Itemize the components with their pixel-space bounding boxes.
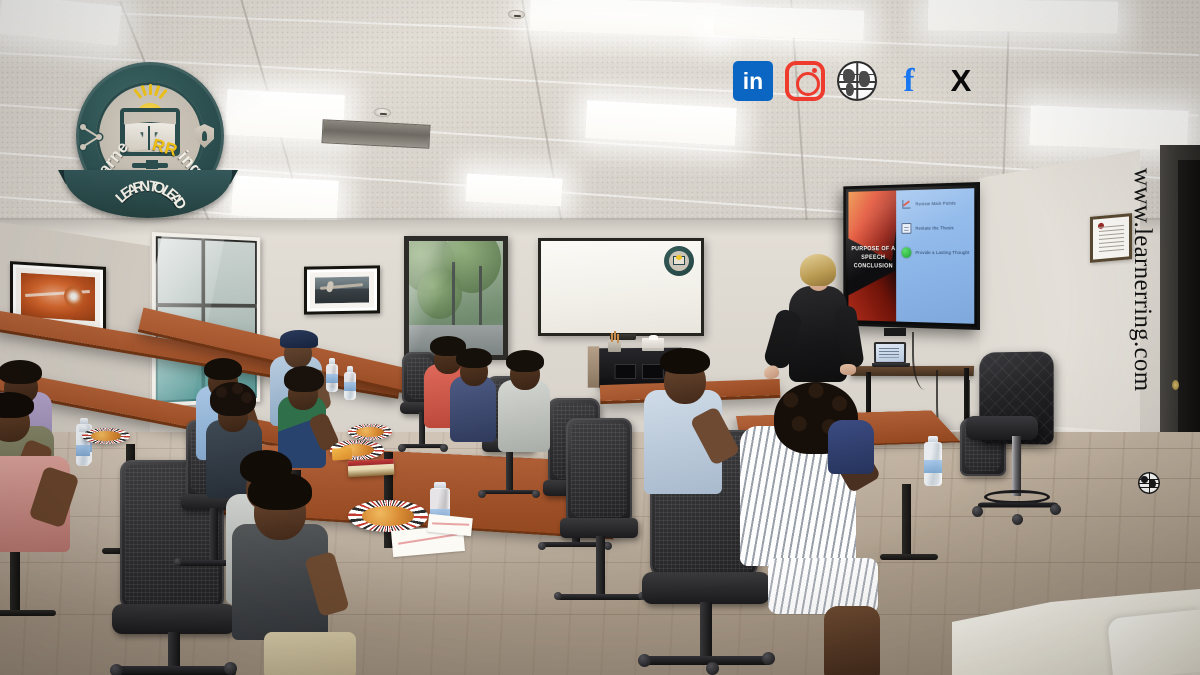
facebook-icon[interactable]: f — [889, 61, 929, 101]
classroom-photo: PURPOSE OF A SPEECH CONCLUSION Review Ma… — [0, 0, 1200, 675]
table-foot — [880, 554, 938, 560]
ceiling-light-panel — [231, 175, 339, 220]
learnerring-logo: Learne RR ing L E A R N T O L E A D — [58, 62, 238, 238]
presentation-slide: PURPOSE OF A SPEECH CONCLUSION Review Ma… — [848, 188, 974, 324]
table-foot — [0, 610, 56, 616]
globe-web-icon[interactable] — [837, 61, 877, 101]
stool-cushion — [966, 416, 1038, 440]
water-bottle — [924, 436, 942, 486]
x-twitter-icon[interactable]: X — [941, 61, 981, 101]
slide-bullet-label: Review Main Points — [915, 201, 955, 207]
water-bottle — [344, 366, 356, 400]
slide-bullet-item: Restate the Thesis — [902, 222, 970, 234]
snack-plate — [348, 500, 428, 532]
presenter-right-hand — [840, 364, 856, 375]
door-knob-icon[interactable] — [1172, 380, 1179, 390]
navy-cap — [280, 330, 318, 348]
presenter-hair — [800, 254, 836, 286]
slide-bullet-panel: Review Main Points Restate the Thesis Pr… — [897, 188, 975, 324]
book — [348, 459, 395, 477]
tissue-box — [642, 338, 664, 351]
whiteboard — [538, 238, 704, 336]
social-icon-bar: in f X — [733, 55, 993, 107]
stool-base — [978, 503, 1059, 508]
smoke-detector-icon — [374, 108, 391, 118]
document-icon — [902, 223, 912, 234]
stool-caster — [1012, 514, 1023, 525]
slide-bullet-item: Provide a Lasting Thought — [902, 247, 970, 258]
smoke-detector-icon — [508, 10, 525, 20]
line-chart-icon — [902, 199, 912, 210]
green-dot-icon — [902, 247, 912, 258]
linkedin-icon[interactable]: in — [733, 61, 773, 101]
stool-caster — [972, 506, 983, 517]
logo-tagline: L E A R N T O L E A D — [66, 178, 230, 226]
table-leg — [902, 484, 911, 560]
snack-bag — [332, 447, 353, 460]
ceiling-light-panel — [585, 100, 737, 146]
website-url-text: www.learnerring.com — [1128, 168, 1156, 391]
slide-title: PURPOSE OF A SPEECH CONCLUSION — [851, 246, 895, 272]
slide-bullet-label: Restate the Thesis — [915, 225, 953, 230]
water-bottle — [326, 358, 338, 392]
student-shorts — [264, 632, 356, 675]
ceiling-light-panel — [465, 174, 562, 207]
stool-gas-cylinder — [1012, 436, 1021, 496]
tv-wall-mount — [884, 328, 906, 336]
stool-caster — [1050, 504, 1061, 515]
pencil-cup — [608, 340, 621, 352]
presenter-laptop[interactable] — [872, 342, 908, 368]
ceiling-light-panel — [714, 5, 865, 40]
slide-bullet-item: Review Main Points — [902, 197, 970, 209]
snack-plate — [348, 424, 392, 440]
framed-osprey-photo — [304, 265, 380, 314]
snack-plate — [82, 428, 130, 444]
instagram-icon[interactable] — [785, 61, 825, 101]
slide-bullet-label: Provide a Lasting Thought — [915, 250, 969, 255]
ceiling-light-panel — [928, 0, 1119, 34]
logo-banner: L E A R N T O L E A D — [58, 162, 238, 228]
ceiling-light-panel — [529, 0, 720, 37]
ceiling-light-panel — [1029, 105, 1188, 150]
slide-title-panel: PURPOSE OF A SPEECH CONCLUSION — [848, 190, 896, 321]
tablecloth-fold — [1107, 609, 1200, 675]
whiteboard-logo-icon — [664, 246, 694, 276]
website-url-watermark: www.learnerring.com — [1108, 168, 1144, 488]
globe-icon — [1138, 472, 1160, 494]
wall-mounted-tv: PURPOSE OF A SPEECH CONCLUSION Review Ma… — [843, 182, 980, 330]
